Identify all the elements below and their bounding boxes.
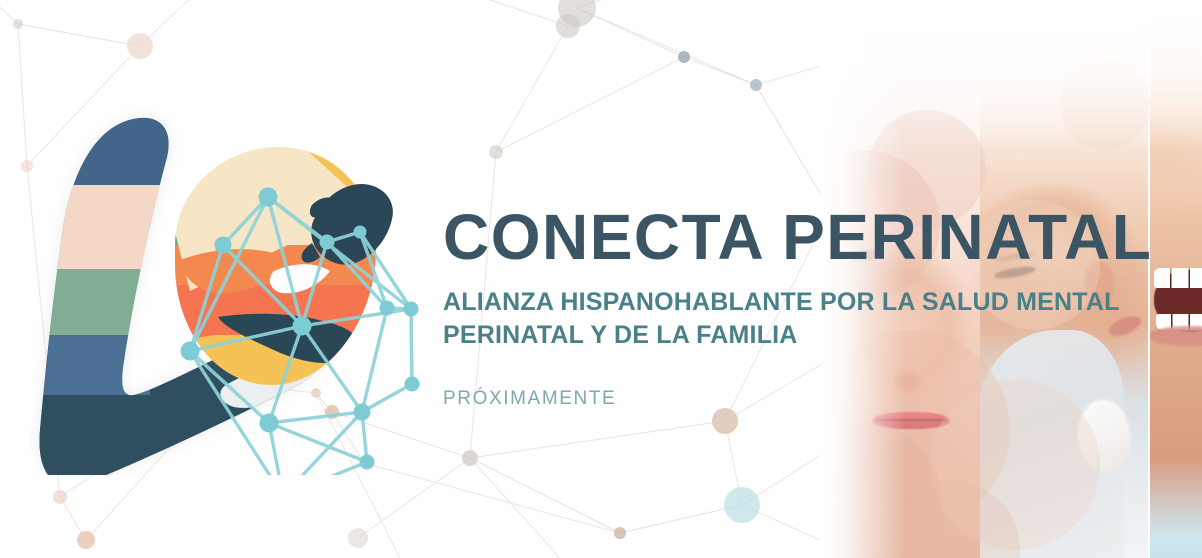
page-subtitle: ALIANZA HISPANOHABLANTE POR LA SALUD MEN… <box>443 286 1123 352</box>
hero-banner: CONECTA PERINATAL ALIANZA HISPANOHABLANT… <box>0 0 1202 558</box>
hero-text-block: CONECTA PERINATAL ALIANZA HISPANOHABLANT… <box>443 205 1183 410</box>
subtitle-line-2: PERINATAL Y DE LA FAMILIA <box>443 319 1123 352</box>
logo-baby-figure <box>160 135 400 405</box>
conecta-perinatal-logo <box>30 85 430 475</box>
subtitle-line-1: ALIANZA HISPANOHABLANTE POR LA SALUD MEN… <box>443 286 1123 319</box>
status-badge: PRÓXIMAMENTE <box>443 388 1183 410</box>
page-title: CONECTA PERINATAL <box>443 205 1183 269</box>
baby-hand <box>1078 400 1130 472</box>
